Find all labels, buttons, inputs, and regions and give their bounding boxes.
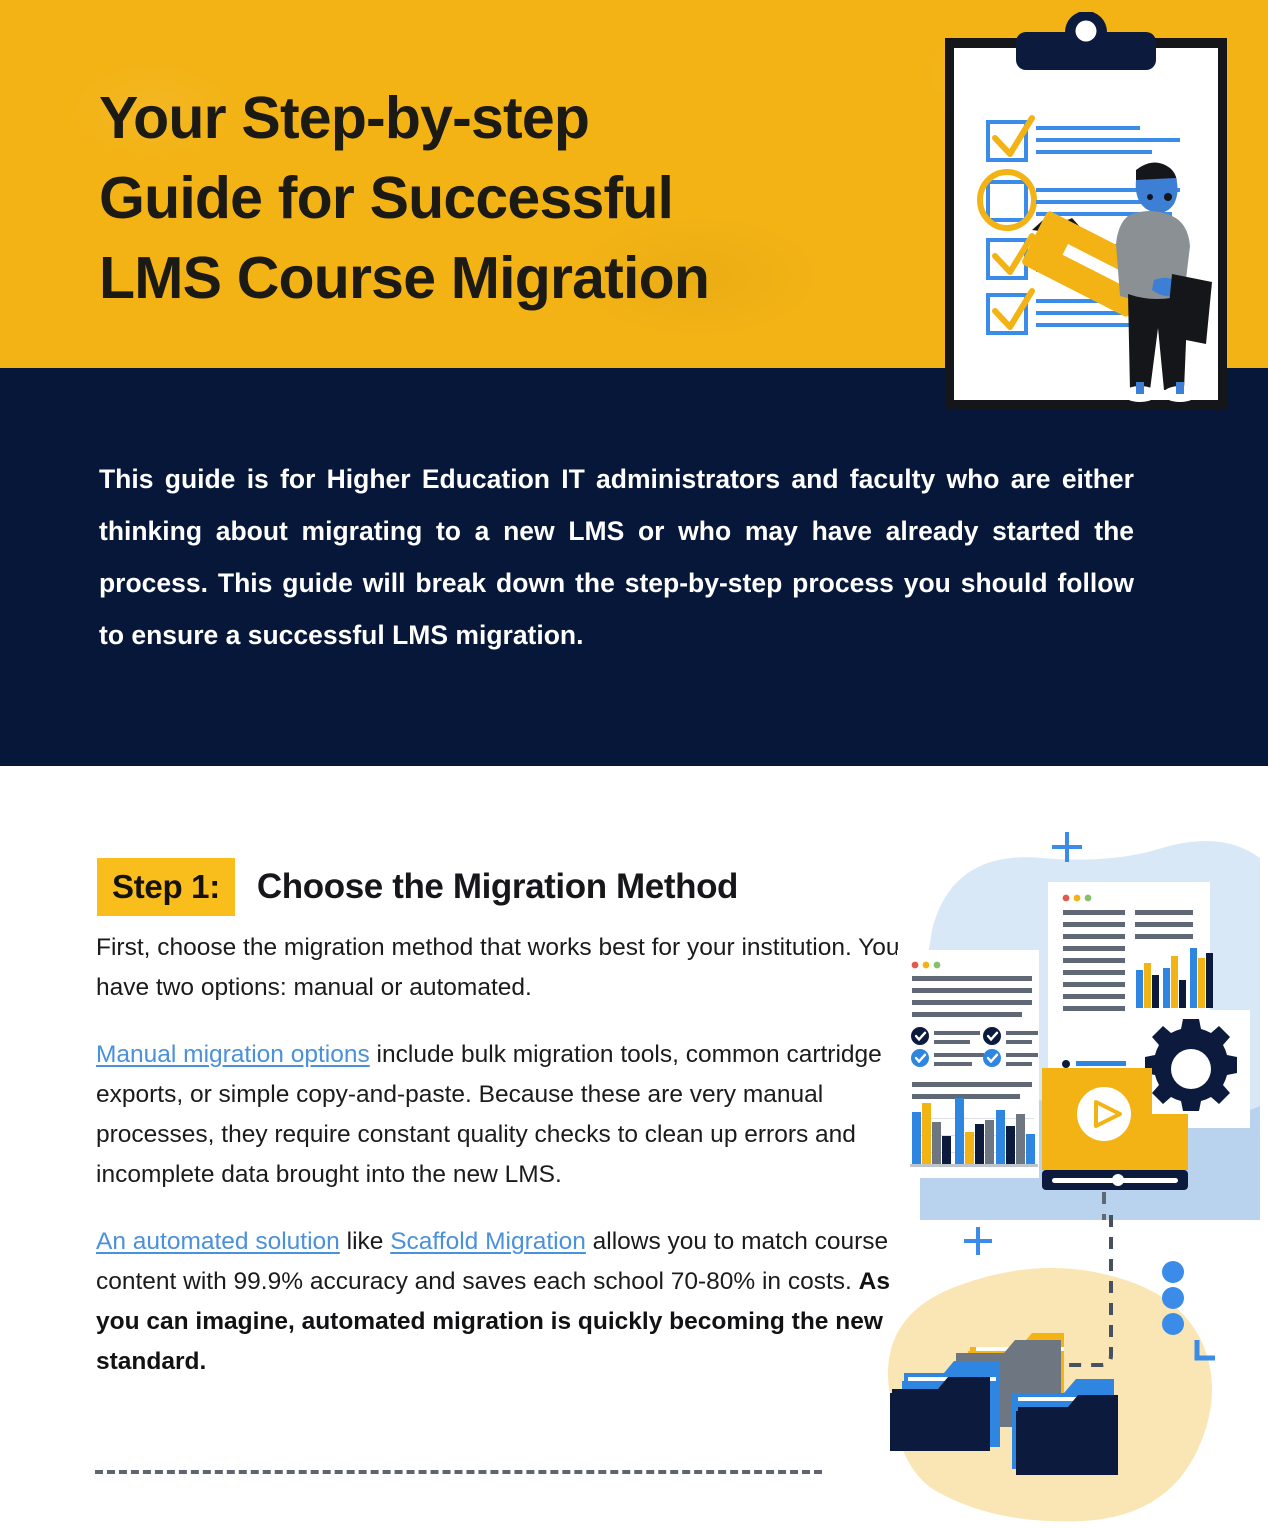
folders-illustration	[860, 1215, 1268, 1528]
documents-charts-illustration	[860, 820, 1268, 1220]
plus-marker-icon	[1052, 832, 1082, 862]
inline-link[interactable]: An automated solution	[96, 1228, 340, 1255]
step-body-text: First, choose the migration method that …	[96, 928, 916, 1382]
document-card-left	[897, 950, 1039, 1178]
inline-link[interactable]: Manual migration options	[96, 1041, 370, 1068]
blue-dots	[1162, 1261, 1184, 1335]
paragraph-3: An automated solution like Scaffold Migr…	[96, 1222, 916, 1382]
intro-paragraph: This guide is for Higher Education IT ad…	[99, 453, 1134, 661]
page-title-line-2: Guide for Successful	[99, 158, 929, 238]
inline-link[interactable]: Scaffold Migration	[390, 1228, 586, 1255]
step-heading: Step 1: Choose the Migration Method	[97, 858, 738, 916]
body-text-run: like	[340, 1228, 390, 1255]
step-title: Choose the Migration Method	[257, 867, 738, 907]
section-divider	[95, 1470, 822, 1474]
plus-marker-icon	[964, 1227, 992, 1255]
paragraph-1: First, choose the migration method that …	[96, 928, 916, 1008]
step-badge: Step 1:	[97, 858, 235, 916]
page-title-line-3: LMS Course Migration	[99, 238, 929, 318]
body-text-run: First, choose the migration method that …	[96, 934, 899, 1001]
clipboard-checklist-illustration	[940, 12, 1232, 420]
page-title: Your Step-by-step Guide for Successful L…	[99, 78, 929, 318]
infographic-page: Your Step-by-step Guide for Successful L…	[0, 0, 1268, 1528]
page-title-line-1: Your Step-by-step	[99, 78, 929, 158]
paragraph-2: Manual migration options include bulk mi…	[96, 1035, 916, 1195]
